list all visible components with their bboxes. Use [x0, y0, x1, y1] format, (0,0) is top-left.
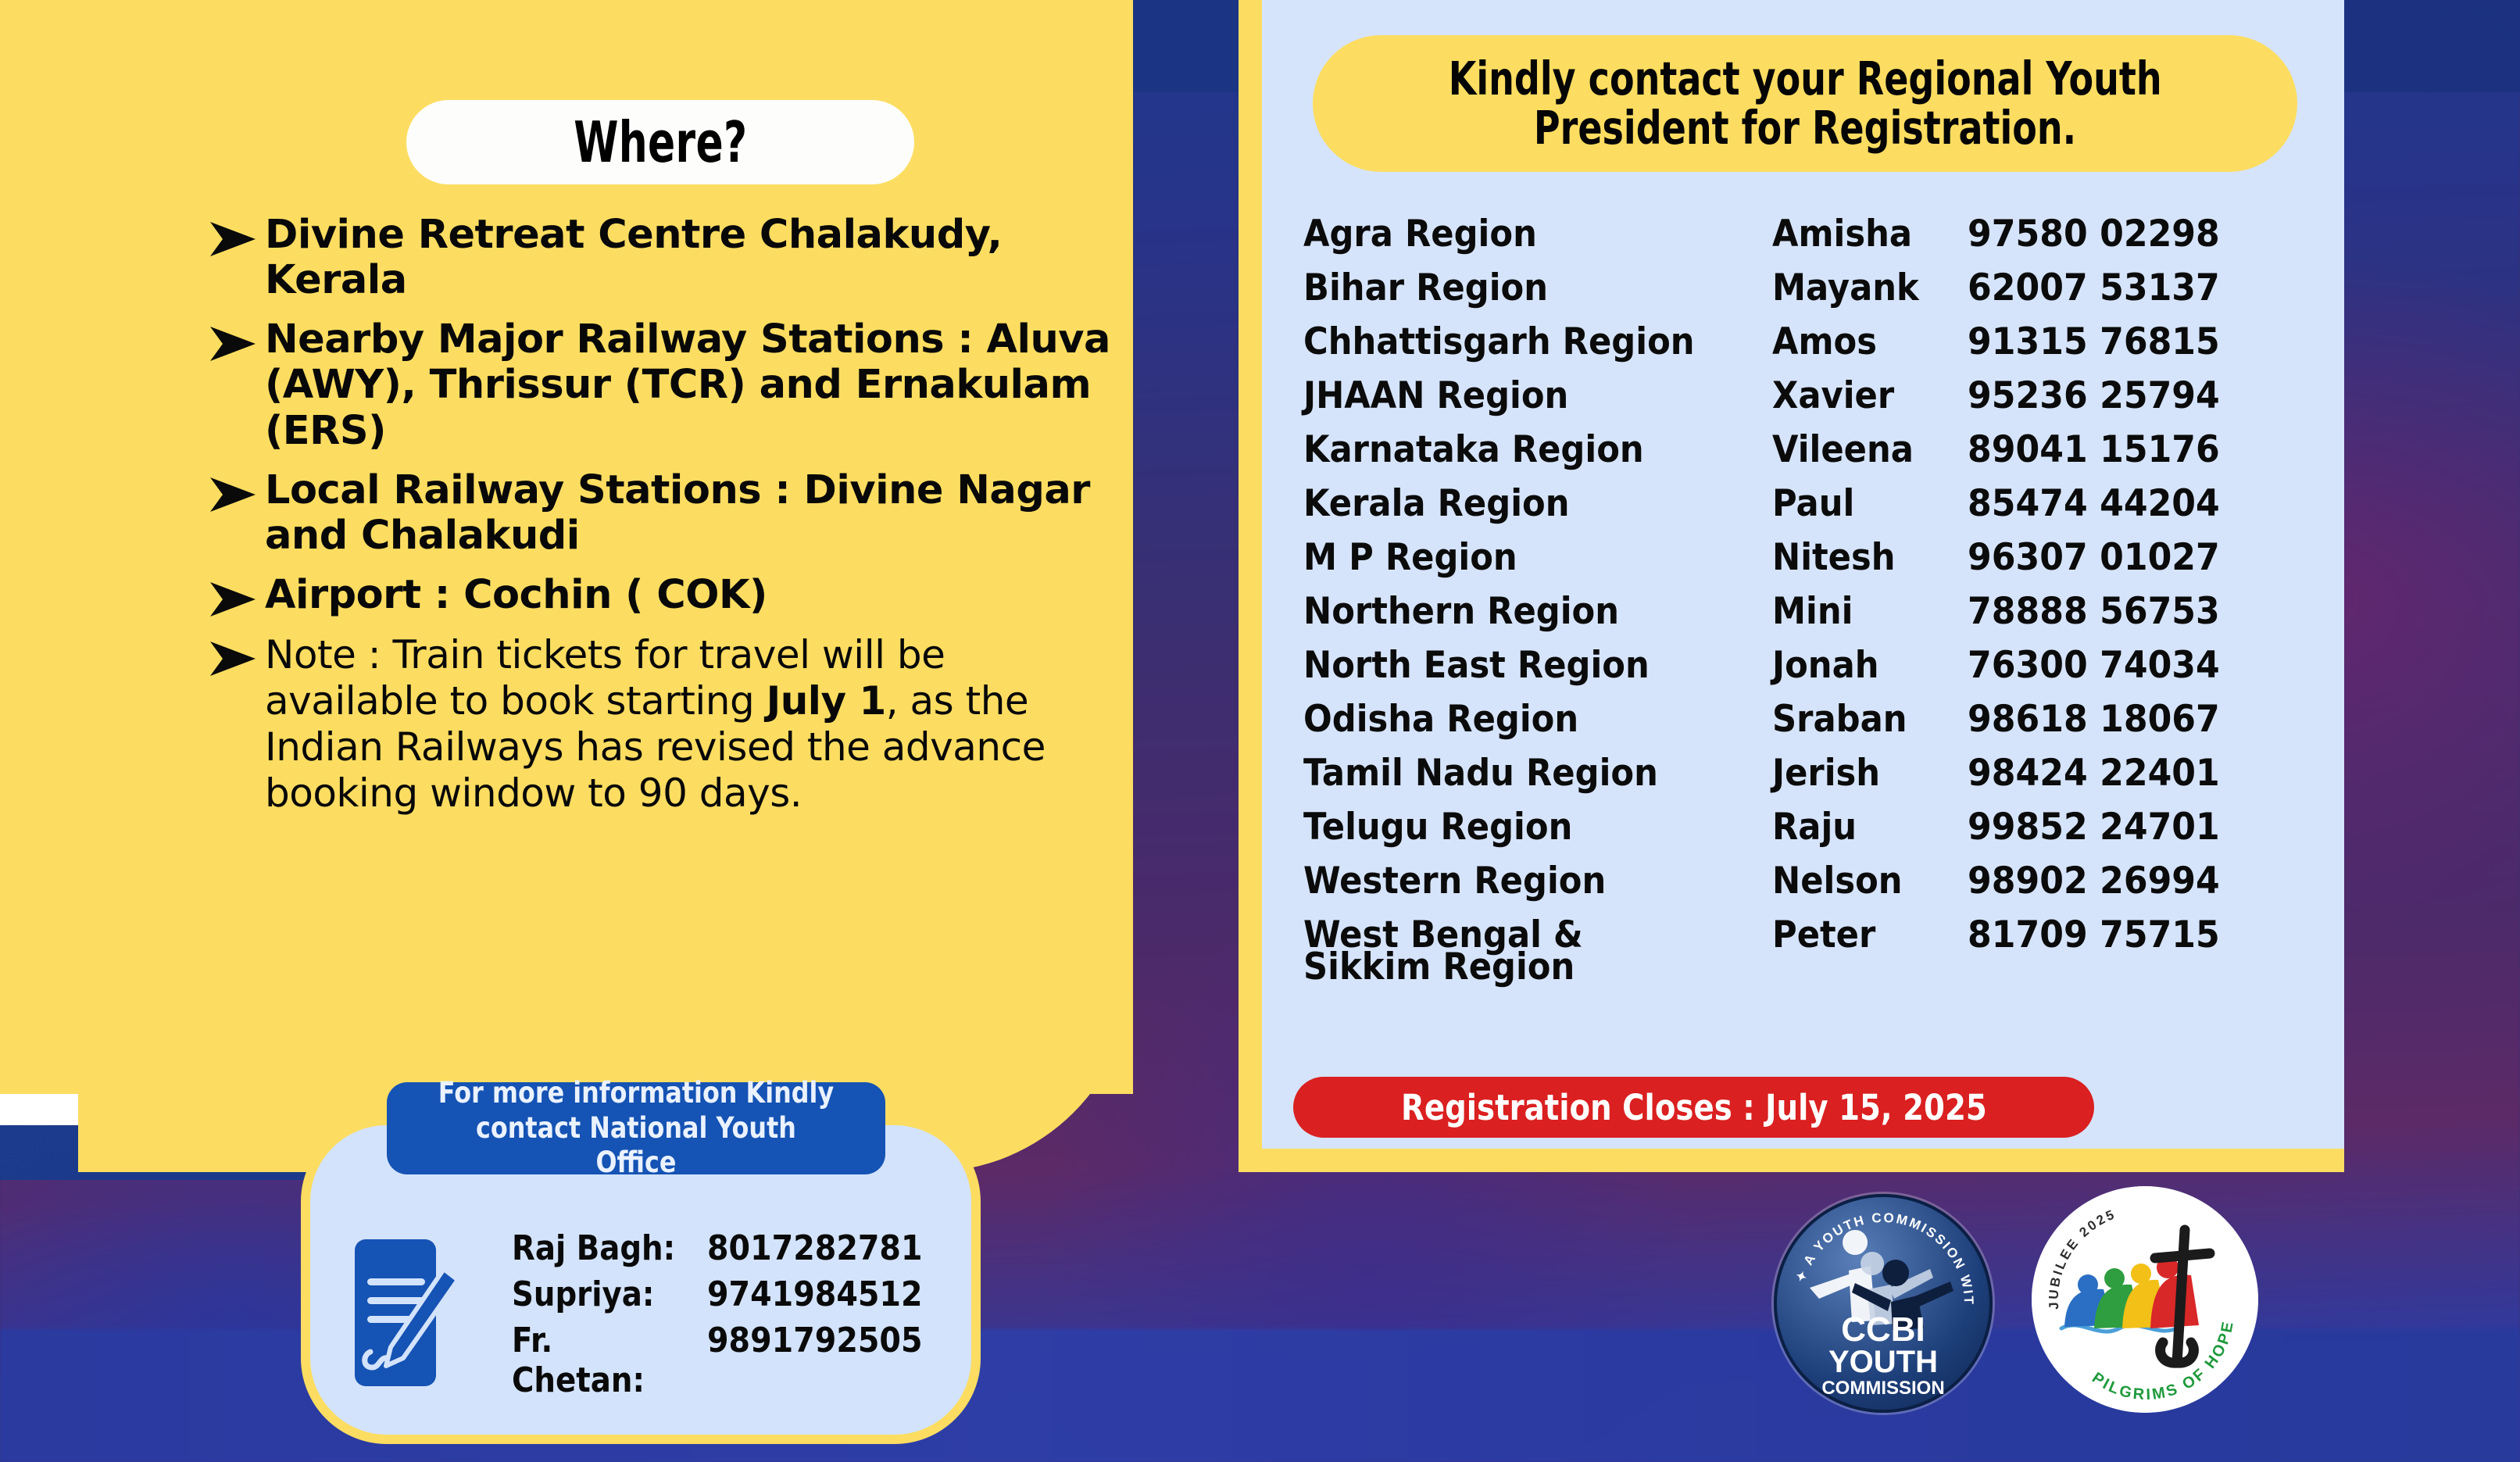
bullet-item-train-ticket-note: Note : Train tickets for travel will be …	[207, 632, 1113, 817]
president-name: Nelson	[1772, 860, 1952, 903]
region-name: Karnataka Region	[1303, 428, 1735, 471]
contact-row: Supriya: 9741984512	[512, 1274, 946, 1314]
president-phone[interactable]: 98424 22401	[1968, 752, 2220, 795]
president-name: Jerish	[1772, 752, 1952, 795]
president-phone[interactable]: 95236 25794	[1968, 374, 2220, 417]
president-name: Vileena	[1772, 428, 1952, 471]
bullet-item-local-railway-stations: Local Railway Stations : Divine Nagar an…	[207, 468, 1113, 559]
table-row: Karnataka Region Vileena 89041 15176	[1303, 428, 2236, 482]
info-card-heading: For more information Kindly contact Nati…	[432, 1076, 839, 1180]
arrow-bullet-icon	[207, 325, 259, 363]
registration-deadline-text: Registration Closes : July 15, 2025	[1401, 1087, 1987, 1128]
president-name: Xavier	[1772, 374, 1952, 417]
president-phone[interactable]: 81709 75715	[1968, 913, 2220, 956]
table-row: Chhattisgarh Region Amos 91315 76815	[1303, 320, 2236, 374]
table-row: Odisha Region Sraban 98618 18067	[1303, 698, 2236, 752]
president-phone[interactable]: 76300 74034	[1968, 644, 2220, 687]
contact-phone[interactable]: 9891792505	[707, 1321, 923, 1360]
arrow-bullet-icon	[207, 640, 259, 677]
regional-contacts-heading-pill: Kindly contact your Regional Youth Presi…	[1313, 35, 2297, 172]
bullet-item-venue: Divine Retreat Centre Chalakudy, Kerala	[207, 213, 1113, 303]
note-emphasis: July 1	[767, 678, 886, 724]
regional-contacts-table: Agra Region Amisha 97580 02298 Bihar Reg…	[1303, 213, 2236, 967]
region-name: Western Region	[1303, 860, 1735, 903]
panel-bottom-yellow-edge	[1239, 1149, 2344, 1172]
table-row: JHAAN Region Xavier 95236 25794	[1303, 374, 2236, 428]
registration-deadline-banner: Registration Closes : July 15, 2025	[1293, 1077, 2094, 1138]
president-phone[interactable]: 91315 76815	[1968, 320, 2220, 363]
president-name: Amisha	[1772, 213, 1952, 256]
table-row: Kerala Region Paul 85474 44204	[1303, 482, 2236, 536]
regional-heading-line1: Kindly contact your Regional Youth	[1449, 55, 2162, 104]
president-phone[interactable]: 97580 02298	[1968, 213, 2220, 256]
contact-name: Supriya:	[512, 1274, 684, 1314]
bullet-item-airport: Airport : Cochin ( COK)	[207, 573, 1113, 618]
region-name: Telugu Region	[1303, 806, 1735, 849]
document-pen-icon	[352, 1235, 469, 1391]
region-name: JHAAN Region	[1303, 374, 1735, 417]
president-phone[interactable]: 89041 15176	[1968, 428, 2220, 471]
panel-left-yellow-edge	[1239, 0, 1262, 1172]
where-bullet-list: Divine Retreat Centre Chalakudy, Kerala …	[207, 213, 1113, 831]
president-name: Amos	[1772, 320, 1952, 363]
region-name: Tamil Nadu Region	[1303, 752, 1735, 795]
table-row: North East Region Jonah 76300 74034	[1303, 644, 2236, 698]
bullet-text: Airport : Cochin ( COK)	[265, 573, 767, 618]
president-name: Sraban	[1772, 698, 1952, 741]
bullet-text: Nearby Major Railway Stations : Aluva (A…	[265, 317, 1113, 453]
region-name: Northern Region	[1303, 590, 1735, 633]
arrow-bullet-icon	[207, 581, 259, 618]
president-phone[interactable]: 78888 56753	[1968, 590, 2220, 633]
arrow-bullet-icon	[207, 476, 259, 513]
president-name: Raju	[1772, 806, 1952, 849]
national-youth-office-contact-list: Raj Bagh: 8017282781 Supriya: 9741984512…	[512, 1228, 946, 1407]
region-name: Chhattisgarh Region	[1303, 320, 1735, 363]
table-row: Northern Region Mini 78888 56753	[1303, 590, 2236, 644]
table-row: Tamil Nadu Region Jerish 98424 22401	[1303, 752, 2236, 806]
bullet-item-major-railway-stations: Nearby Major Railway Stations : Aluva (A…	[207, 317, 1113, 453]
region-name: Kerala Region	[1303, 482, 1735, 525]
jubilee-2025-pilgrims-of-hope-logo: JUBILEE 2025 PILGRIMS OF HOPE	[2032, 1186, 2258, 1413]
president-phone[interactable]: 62007 53137	[1968, 266, 2220, 309]
president-name: Nitesh	[1772, 536, 1952, 579]
president-phone[interactable]: 85474 44204	[1968, 482, 2220, 525]
region-name: Agra Region	[1303, 213, 1735, 256]
regional-heading-line2: President for Registration.	[1534, 104, 2076, 153]
svg-text:COMMISSION: COMMISSION	[1821, 1378, 1944, 1399]
president-name: Mayank	[1772, 266, 1952, 309]
region-name: Odisha Region	[1303, 698, 1735, 741]
table-row: Western Region Nelson 98902 26994	[1303, 860, 2236, 913]
president-name: Paul	[1772, 482, 1952, 525]
contact-phone[interactable]: 9741984512	[707, 1274, 923, 1314]
president-name: Jonah	[1772, 644, 1952, 687]
arrow-bullet-icon	[207, 220, 259, 258]
svg-text:YOUTH: YOUTH	[1828, 1345, 1938, 1379]
table-row: Agra Region Amisha 97580 02298	[1303, 213, 2236, 266]
president-phone[interactable]: 98902 26994	[1968, 860, 2220, 903]
region-name: North East Region	[1303, 644, 1735, 687]
where-heading-pill: Where?	[406, 100, 914, 184]
table-row: M P Region Nitesh 96307 01027	[1303, 536, 2236, 590]
president-name: Peter	[1772, 913, 1952, 956]
bullet-text: Divine Retreat Centre Chalakudy, Kerala	[265, 213, 1113, 303]
president-name: Mini	[1772, 590, 1952, 633]
poster-canvas: Where? Divine Retreat Centre Chalakudy, …	[0, 0, 2520, 1462]
table-row: Telugu Region Raju 99852 24701	[1303, 806, 2236, 860]
bullet-text: Local Railway Stations : Divine Nagar an…	[265, 468, 1113, 559]
svg-text:CCBI: CCBI	[1841, 1310, 1925, 1349]
ccbi-youth-commission-logo: ✦ A YOUTH COMMISSION WITH A MISSION ✦ CC…	[1774, 1194, 1993, 1413]
president-phone[interactable]: 96307 01027	[1968, 536, 2220, 579]
contact-row: Fr. Chetan: 9891792505	[512, 1321, 946, 1400]
contact-phone[interactable]: 8017282781	[707, 1228, 923, 1268]
table-row: Bihar Region Mayank 62007 53137	[1303, 266, 2236, 320]
president-phone[interactable]: 98618 18067	[1968, 698, 2220, 741]
contact-name: Fr. Chetan:	[512, 1321, 684, 1400]
page-title: Where?	[574, 109, 747, 175]
region-name: M P Region	[1303, 536, 1735, 579]
president-phone[interactable]: 99852 24701	[1968, 806, 2220, 849]
region-name: Bihar Region	[1303, 266, 1735, 309]
region-name-continuation: Sikkim Region	[1303, 945, 1575, 988]
contact-name: Raj Bagh:	[512, 1228, 684, 1268]
contact-row: Raj Bagh: 8017282781	[512, 1228, 946, 1268]
national-youth-office-heading-pill: For more information Kindly contact Nati…	[387, 1082, 885, 1174]
note-text: Note : Train tickets for travel will be …	[265, 632, 1113, 817]
